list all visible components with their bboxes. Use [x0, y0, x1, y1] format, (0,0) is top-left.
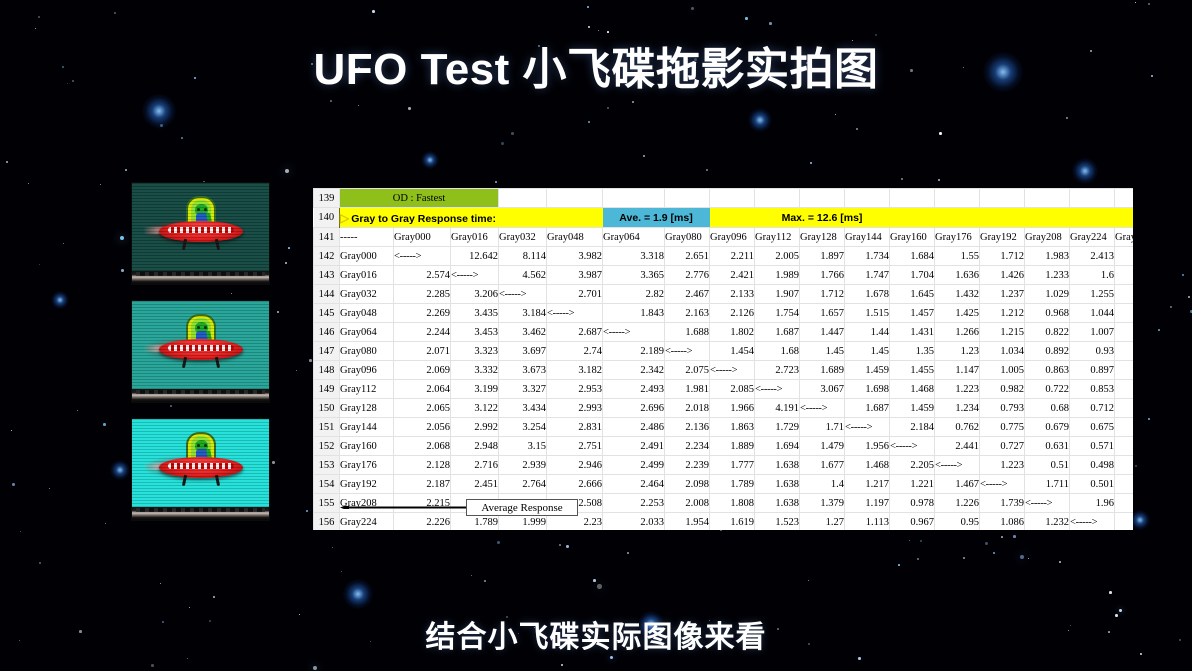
response-time-cell: 1.141 — [1115, 361, 1133, 380]
star — [1020, 555, 1024, 559]
response-time-cell: 0.863 — [1025, 361, 1070, 380]
response-time-cell: 2.776 — [665, 266, 710, 285]
star — [114, 12, 116, 14]
column-header: Gray016 — [451, 228, 499, 247]
response-time-cell: 0.762 — [935, 418, 980, 437]
row-header: Gray144 — [340, 418, 394, 437]
response-time-cell: 1.96 — [1070, 494, 1115, 513]
star — [1182, 274, 1184, 276]
response-time-cell: 3.453 — [451, 323, 499, 342]
response-time-cell: 1.266 — [935, 323, 980, 342]
star — [277, 311, 279, 313]
response-time-cell: 1.55 — [935, 247, 980, 266]
column-header: Gray128 — [800, 228, 845, 247]
empty-cell — [1115, 189, 1133, 208]
response-time-cell: 1.432 — [935, 285, 980, 304]
response-time-cell: 2.136 — [665, 418, 710, 437]
star — [471, 575, 472, 576]
star — [1148, 418, 1150, 420]
response-time-cell: 1.677 — [800, 456, 845, 475]
star-glow — [1130, 510, 1150, 530]
ufo-icon — [159, 197, 243, 253]
star — [6, 161, 8, 163]
response-time-cell: 3.122 — [451, 399, 499, 418]
diagonal-marker-cell: <-----> — [1070, 513, 1115, 531]
star — [598, 30, 599, 31]
response-time-cell: 1.234 — [935, 399, 980, 418]
star — [627, 552, 629, 554]
star — [985, 542, 988, 545]
response-time-cell: 1.029 — [1025, 285, 1070, 304]
row-header: Gray064 — [340, 323, 394, 342]
response-time-cell: 1.739 — [980, 494, 1025, 513]
response-time-cell: 1.704 — [890, 266, 935, 285]
response-time-cell: 1.754 — [755, 304, 800, 323]
star — [151, 664, 154, 667]
response-time-cell: 1.232 — [1025, 513, 1070, 531]
star — [495, 181, 497, 183]
response-time-cell: 1.215 — [980, 323, 1025, 342]
response-time-cell: 1.391 — [1115, 323, 1133, 342]
response-time-cell: 0.73 — [1115, 494, 1133, 513]
response-time-cell: 2.163 — [665, 304, 710, 323]
response-time-cell: 1.223 — [980, 456, 1025, 475]
response-time-cell: 2.018 — [665, 399, 710, 418]
response-time-cell: 2.226 — [394, 513, 451, 531]
star — [501, 142, 504, 145]
response-time-cell: 1.907 — [755, 285, 800, 304]
response-time-cell: 0.631 — [1025, 437, 1070, 456]
response-time-cell: 3.327 — [499, 380, 547, 399]
response-time-cell: 1.212 — [980, 304, 1025, 323]
star — [920, 540, 922, 542]
response-time-cell: 2.187 — [394, 475, 451, 494]
row-header: Gray192 — [340, 475, 394, 494]
ufo-photo-medium — [131, 300, 270, 403]
ufo-photo-bright — [131, 418, 270, 521]
star — [835, 114, 836, 115]
star — [189, 607, 190, 608]
response-time-cell: 1.689 — [800, 361, 845, 380]
star — [1158, 329, 1160, 331]
star — [306, 510, 308, 512]
response-time-cell: 1.68 — [755, 342, 800, 361]
star — [1066, 117, 1068, 119]
star — [1109, 591, 1112, 594]
response-time-cell: 2.413 — [1070, 247, 1115, 266]
star — [597, 584, 602, 589]
response-time-cell: 0.501 — [1070, 475, 1115, 494]
callout-arrow — [340, 506, 466, 509]
empty-cell — [890, 189, 935, 208]
star — [39, 562, 41, 564]
response-time-cell: 1.221 — [890, 475, 935, 494]
star — [901, 178, 903, 180]
response-time-cell: 2.764 — [499, 475, 547, 494]
star — [103, 423, 106, 426]
response-time-cell: 0.897 — [1070, 361, 1115, 380]
response-time-cell: 8.114 — [499, 247, 547, 266]
row-number: 149 — [314, 380, 340, 399]
response-time-cell: 1.698 — [845, 380, 890, 399]
row-header: Gray016 — [340, 266, 394, 285]
response-time-cell: 1.457 — [890, 304, 935, 323]
response-time-cell: 2.234 — [665, 437, 710, 456]
response-time-cell: 2.008 — [665, 494, 710, 513]
response-time-cell: 1.71 — [800, 418, 845, 437]
response-time-cell: 2.467 — [665, 285, 710, 304]
star — [1028, 558, 1029, 559]
star — [285, 169, 289, 173]
response-time-cell: 2.499 — [603, 456, 665, 475]
response-time-cell: 2.441 — [935, 437, 980, 456]
row-header: Gray096 — [340, 361, 394, 380]
response-time-cell: 2.065 — [394, 399, 451, 418]
response-time-cell: 0.95 — [935, 513, 980, 531]
response-time-cell: 2.189 — [603, 342, 665, 361]
star — [332, 547, 333, 548]
column-header: Gray000 — [394, 228, 451, 247]
row-header: Gray080 — [340, 342, 394, 361]
response-time-cell: 1.636 — [935, 266, 980, 285]
response-time-cell: 1.694 — [755, 437, 800, 456]
empty-cell — [845, 189, 890, 208]
row-number: 150 — [314, 399, 340, 418]
response-time-cell: 2.133 — [710, 285, 755, 304]
response-time-cell: 1.712 — [980, 247, 1025, 266]
column-header: Gray112 — [755, 228, 800, 247]
response-time-cell: 2.071 — [394, 342, 451, 361]
response-time-cell: 0.571 — [1070, 437, 1115, 456]
response-time-cell: 1.455 — [890, 361, 935, 380]
star — [856, 128, 858, 130]
star — [181, 137, 183, 139]
response-time-cell: 2.068 — [394, 437, 451, 456]
star — [938, 179, 940, 181]
response-time-cell: 2.939 — [499, 456, 547, 475]
monitor-bezel — [132, 507, 269, 520]
response-time-cell: 1.954 — [665, 513, 710, 531]
max-value-label: Max. = 12.6 [ms] — [710, 208, 935, 228]
star — [643, 155, 645, 157]
response-time-cell: 1.255 — [1070, 285, 1115, 304]
star — [1148, 3, 1150, 5]
response-time-cell: 1.459 — [845, 361, 890, 380]
star — [610, 656, 613, 659]
row-number: 145 — [314, 304, 340, 323]
ufo-icon — [159, 315, 243, 371]
response-time-cell: 1.425 — [935, 304, 980, 323]
response-time-cell: 1.808 — [710, 494, 755, 513]
response-time-cell: 1.35 — [890, 342, 935, 361]
response-time-cell: 2.239 — [665, 456, 710, 475]
star — [38, 16, 40, 18]
star — [20, 531, 21, 532]
response-time-cell: 1.687 — [845, 399, 890, 418]
response-time-cell: 2.574 — [394, 266, 451, 285]
response-time-cell: 0.93 — [1070, 342, 1115, 361]
column-header: Gray048 — [547, 228, 603, 247]
response-time-cell: 0.928 — [1115, 418, 1133, 437]
response-time-cell: 2.992 — [451, 418, 499, 437]
response-time-cell: 2.946 — [547, 456, 603, 475]
star — [691, 7, 694, 10]
response-time-cell: 0.711 — [1115, 456, 1133, 475]
response-time-cell: 2.493 — [603, 380, 665, 399]
response-time-cell: 0.892 — [1025, 342, 1070, 361]
response-time-cell: 0.675 — [1070, 418, 1115, 437]
response-time-cell: 0.679 — [1025, 418, 1070, 437]
response-time-cell: 3.434 — [499, 399, 547, 418]
star — [63, 243, 64, 244]
response-time-cell: 1.712 — [800, 285, 845, 304]
response-time-cell: 3.435 — [451, 304, 499, 323]
response-time-banner-title: ▷Gray to Gray Response time: — [340, 208, 603, 228]
response-time-cell: 2.064 — [394, 380, 451, 399]
response-time-cell: 3.982 — [547, 247, 603, 266]
response-time-cell: 3.206 — [451, 285, 499, 304]
row-number: 154 — [314, 475, 340, 494]
diagonal-marker-cell: <-----> — [1025, 494, 1070, 513]
response-time-cell: 2.82 — [603, 285, 665, 304]
response-time-cell: 0.853 — [1070, 380, 1115, 399]
response-time-cell: 1.223 — [935, 380, 980, 399]
diagonal-marker-cell: <-----> — [451, 266, 499, 285]
row-header: Gray160 — [340, 437, 394, 456]
response-time-cell: 2.244 — [394, 323, 451, 342]
response-time-cell: 2.421 — [710, 266, 755, 285]
response-time-cell: 2.085 — [710, 380, 755, 399]
star-glow — [343, 579, 373, 609]
banner-title-text: Gray to Gray Response time: — [351, 213, 496, 225]
response-time-cell: 1.23 — [935, 342, 980, 361]
diagonal-marker-cell: <-----> — [800, 399, 845, 418]
response-time-cell: 2.098 — [665, 475, 710, 494]
response-time-cell: 1.766 — [800, 266, 845, 285]
response-time-cell: 2.666 — [547, 475, 603, 494]
star — [120, 236, 124, 240]
response-time-cell: 2.486 — [603, 418, 665, 437]
response-time-cell: 0.709 — [1115, 475, 1133, 494]
response-time-cell: 1.118 — [1115, 380, 1133, 399]
empty-cell — [800, 189, 845, 208]
column-header: Gray224 — [1070, 228, 1115, 247]
response-time-cell: 2.269 — [394, 304, 451, 323]
response-time-cell: 1.467 — [935, 475, 980, 494]
star-glow — [110, 460, 130, 480]
star — [917, 558, 919, 560]
response-time-cell: 2.253 — [603, 494, 665, 513]
response-time-cell: 0.905 — [1115, 437, 1133, 456]
response-time-cell: 0.712 — [1070, 399, 1115, 418]
star — [1001, 536, 1003, 538]
response-time-cell: 3.365 — [603, 266, 665, 285]
response-time-cell: 2.723 — [755, 361, 800, 380]
response-time-cell: 4.191 — [755, 399, 800, 418]
response-time-cell: 3.987 — [547, 266, 603, 285]
response-time-cell: 0.51 — [1025, 456, 1070, 475]
response-time-cell: 0.498 — [1070, 456, 1115, 475]
monitor-bezel — [132, 271, 269, 284]
response-time-cell: 1.044 — [1070, 304, 1115, 323]
response-time-cell: 0.967 — [890, 513, 935, 531]
star — [909, 540, 910, 541]
star — [939, 132, 942, 135]
star — [100, 184, 101, 185]
response-time-cell: 1.034 — [980, 342, 1025, 361]
response-time-cell: 1.4 — [800, 475, 845, 494]
response-time-cell: 1.638 — [755, 475, 800, 494]
response-time-table: 139OD : Fastest140▷Gray to Gray Response… — [313, 188, 1133, 530]
star — [330, 100, 332, 102]
star — [898, 564, 900, 566]
response-time-cell: 0.775 — [980, 418, 1025, 437]
response-time-cell: 1.983 — [1025, 247, 1070, 266]
star — [39, 264, 40, 265]
diagonal-marker-cell: <-----> — [980, 475, 1025, 494]
response-time-cell: 1.515 — [845, 304, 890, 323]
response-time-cell: 1.113 — [845, 513, 890, 531]
response-time-cell: 1.005 — [980, 361, 1025, 380]
response-time-cell: 1.27 — [800, 513, 845, 531]
slide-title: UFO Test 小飞碟拖影实拍图 — [0, 33, 1192, 97]
star — [588, 121, 590, 123]
diagonal-marker-cell: <-----> — [547, 304, 603, 323]
star — [810, 162, 812, 164]
response-time-cell: 0.982 — [980, 380, 1025, 399]
row-number: 146 — [314, 323, 340, 342]
column-header: Gray064 — [603, 228, 665, 247]
response-time-cell: 1.459 — [890, 399, 935, 418]
response-time-cell: 1.454 — [710, 342, 755, 361]
response-time-cell: 1.489 — [1115, 304, 1133, 323]
response-time-cell: 2.126 — [710, 304, 755, 323]
diagonal-marker-cell: <-----> — [755, 380, 800, 399]
star — [285, 262, 287, 264]
monitor-bezel — [132, 389, 269, 402]
response-time-cell: 1.747 — [845, 266, 890, 285]
column-header: Gray080 — [665, 228, 710, 247]
star — [272, 461, 275, 464]
star — [309, 359, 312, 362]
column-header: Gray240 — [1115, 228, 1133, 247]
star — [341, 571, 342, 572]
response-time-cell: 1.688 — [665, 323, 710, 342]
response-time-cell: 2.491 — [603, 437, 665, 456]
response-time-cell: 1.989 — [755, 266, 800, 285]
response-time-cell: 2.687 — [547, 323, 603, 342]
response-time-cell: 1.086 — [980, 513, 1025, 531]
row-number: 152 — [314, 437, 340, 456]
star — [105, 523, 106, 524]
response-time-cell: 1.468 — [890, 380, 935, 399]
star-glow — [748, 108, 772, 132]
response-time-cell: 1.426 — [980, 266, 1025, 285]
star — [497, 541, 500, 544]
star-glow — [51, 291, 69, 309]
star — [963, 557, 965, 559]
star — [1135, 465, 1137, 467]
empty-cell — [603, 189, 665, 208]
response-time-cell: 1.197 — [845, 494, 890, 513]
response-time-cell: 3.332 — [451, 361, 499, 380]
star — [745, 17, 748, 20]
response-time-cell: 2.74 — [547, 342, 603, 361]
star — [993, 552, 995, 554]
star-glow — [1072, 158, 1098, 184]
response-time-cell: 1.147 — [935, 361, 980, 380]
star — [587, 6, 589, 8]
response-time-cell: 2.215 — [394, 494, 451, 513]
row-number: 147 — [314, 342, 340, 361]
response-time-cell: 0.727 — [980, 437, 1025, 456]
response-time-cell: 1.684 — [890, 247, 935, 266]
response-time-cell: 2.651 — [665, 247, 710, 266]
response-time-cell: 0.968 — [1025, 304, 1070, 323]
response-time-cell: 3.029 — [1115, 247, 1133, 266]
row-number: 144 — [314, 285, 340, 304]
row-header: Gray112 — [340, 380, 394, 399]
star — [313, 666, 317, 670]
empty-cell — [665, 189, 710, 208]
table-corner-label: ----- — [340, 228, 394, 247]
diagonal-marker-cell: <-----> — [935, 456, 980, 475]
response-time-cell: 1.233 — [1025, 266, 1070, 285]
response-time-cell: 1.468 — [845, 456, 890, 475]
response-time-cell: 2.751 — [547, 437, 603, 456]
column-header: Gray176 — [935, 228, 980, 247]
response-time-cell: 1.966 — [710, 399, 755, 418]
row-number: 155 — [314, 494, 340, 513]
row-header: Gray208 — [340, 494, 394, 513]
response-time-cell: 1.889 — [710, 437, 755, 456]
star — [12, 483, 15, 486]
response-time-cell: 2.211 — [710, 247, 755, 266]
star — [49, 488, 50, 489]
star — [632, 101, 634, 103]
row-header: Gray000 — [340, 247, 394, 266]
star — [1188, 296, 1190, 298]
empty-cell — [1025, 189, 1070, 208]
star — [125, 169, 127, 171]
response-time-cell: 1.843 — [603, 304, 665, 323]
response-time-cell: 2.701 — [547, 285, 603, 304]
diagonal-marker-cell: <-----> — [890, 437, 935, 456]
star — [484, 580, 486, 582]
star — [566, 545, 569, 548]
response-time-cell: 2.696 — [603, 399, 665, 418]
empty-cell — [980, 189, 1025, 208]
response-time-cell: 1.638 — [755, 456, 800, 475]
row-number: 148 — [314, 361, 340, 380]
response-time-cell: 1.657 — [800, 304, 845, 323]
response-time-cell: 1.687 — [755, 323, 800, 342]
average-value-badge: Ave. = 1.9 [ms] — [603, 208, 710, 228]
response-time-cell: 1.45 — [800, 342, 845, 361]
response-time-cell: 3.182 — [547, 361, 603, 380]
response-time-cell: 1.479 — [800, 437, 845, 456]
response-time-cell: 1.71 — [1115, 285, 1133, 304]
diagonal-marker-cell: <-----> — [710, 361, 755, 380]
response-time-cell: 2.205 — [890, 456, 935, 475]
diagonal-marker-cell: <-----> — [394, 247, 451, 266]
response-time-cell: 3.318 — [603, 247, 665, 266]
column-header: Gray096 — [710, 228, 755, 247]
empty-cell — [755, 189, 800, 208]
diagonal-marker-cell: <-----> — [499, 285, 547, 304]
star — [607, 107, 609, 109]
response-time-cell: 1.638 — [755, 494, 800, 513]
